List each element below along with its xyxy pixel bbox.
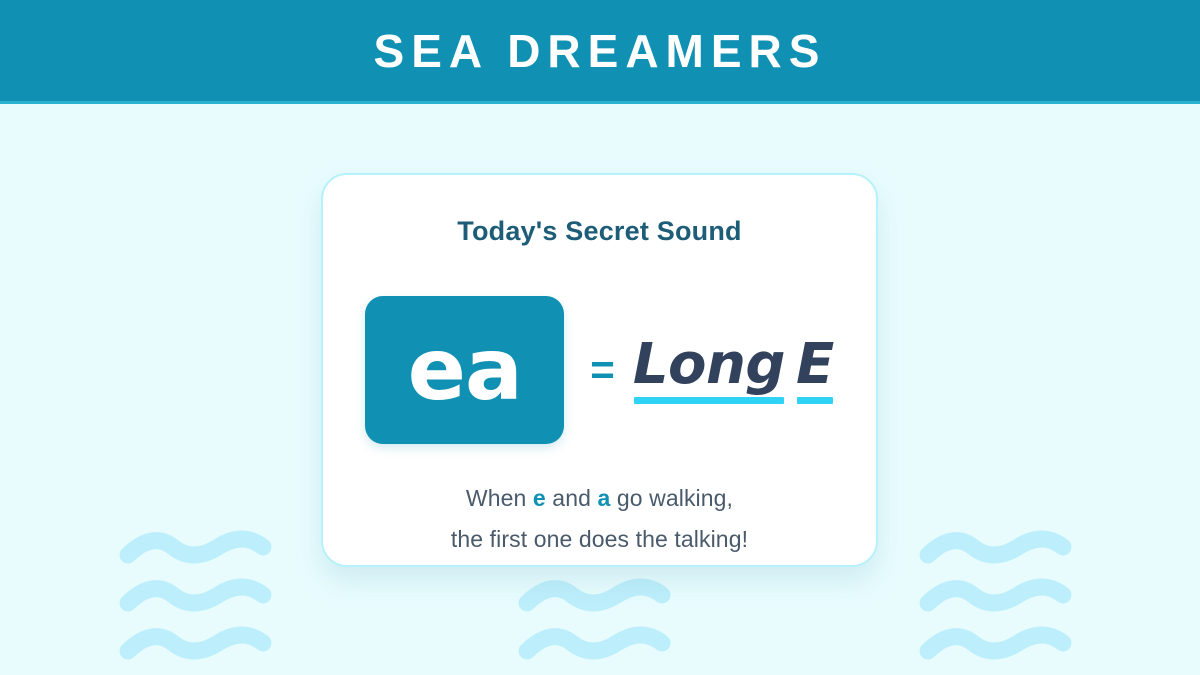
rhyme-text-when: When — [466, 485, 533, 511]
rhyme-line-2: the first one does the talking! — [451, 519, 748, 560]
sound-name: Long E — [633, 337, 834, 404]
grapheme-tile: ea — [365, 296, 564, 444]
sound-name-word-e: E — [796, 337, 834, 404]
header-banner: SEA DREAMERS — [0, 0, 1200, 104]
rhyme-block: When e and a go walking, the first one d… — [451, 478, 748, 560]
rhyme-highlight-e: e — [533, 485, 546, 511]
equals-icon: = — [590, 349, 615, 391]
card-heading: Today's Secret Sound — [457, 218, 741, 245]
rhyme-line-1: When e and a go walking, — [451, 478, 748, 519]
grapheme-text: ea — [408, 327, 522, 413]
rhyme-highlight-a: a — [597, 485, 610, 511]
secret-sound-card: Today's Secret Sound ea = Long E When e … — [321, 173, 878, 567]
page-title: SEA DREAMERS — [374, 28, 827, 74]
wave-decoration-right — [918, 527, 1078, 660]
rhyme-text-walking: go walking, — [610, 485, 733, 511]
slide-canvas: SEA DREAMERS Today's Secret Sound ea = L… — [0, 0, 1200, 675]
sound-name-word-long: Long — [633, 337, 785, 404]
rhyme-text-and: and — [546, 485, 598, 511]
sound-equation: ea = Long E — [323, 296, 876, 444]
wave-decoration-left — [118, 527, 278, 660]
